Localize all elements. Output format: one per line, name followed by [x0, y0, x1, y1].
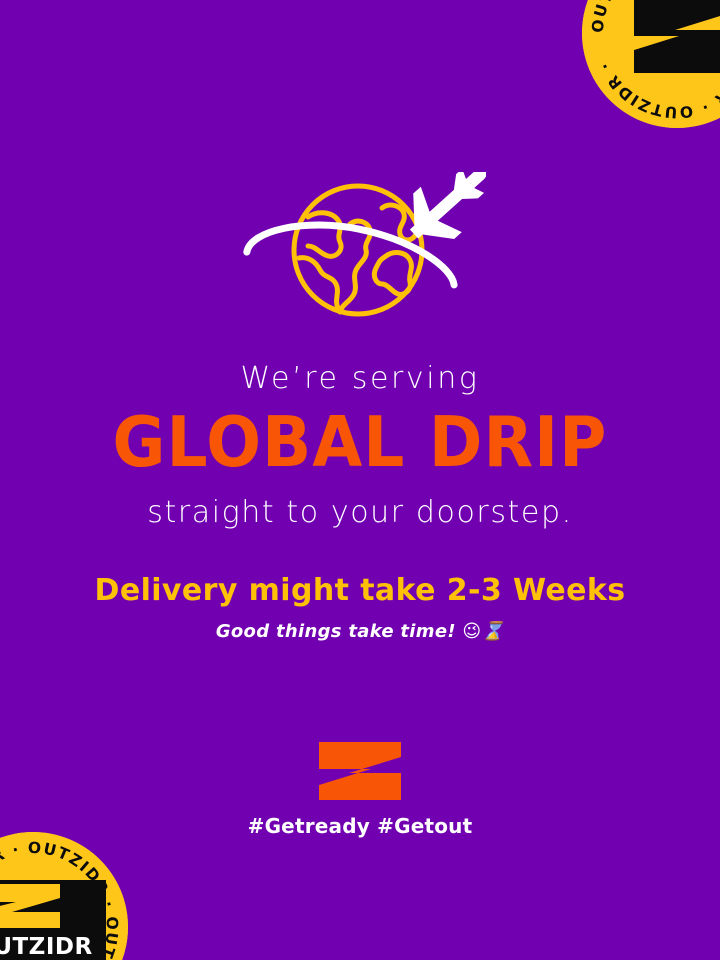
page-title: GLOBAL DRIP [0, 408, 720, 477]
z-logo-icon [319, 742, 401, 800]
subhead-text: straight to your doorstep. [0, 496, 720, 530]
hero-globe-plane-graphic [236, 172, 486, 342]
globe-icon [294, 186, 422, 314]
eyebrow-text: We’re serving [0, 362, 720, 396]
promo-poster: OUTZIDR · OUTZIDR · OUTZIDR · OUTZIDR · … [0, 0, 720, 960]
delivery-estimate-text: Delivery might take 2-3 Weeks [0, 573, 720, 608]
brand-badge-bottom-left: OUTZIDR · OUTZIDR · OUTZIDR · OUTZIDR · … [0, 832, 128, 960]
brand-badge-top-right: OUTZIDR · OUTZIDR · OUTZIDR · OUTZIDR · [582, 0, 720, 128]
poster-copy-block: We’re serving GLOBAL DRIP straight to yo… [0, 362, 720, 642]
footer-brand-block: #Getready #Getout [0, 742, 720, 838]
reassurance-text: Good things take time! 😉⌛ [0, 621, 720, 642]
badge-wordmark: OUTZIDR [0, 934, 93, 960]
hashtags-text: #Getready #Getout [0, 814, 720, 838]
